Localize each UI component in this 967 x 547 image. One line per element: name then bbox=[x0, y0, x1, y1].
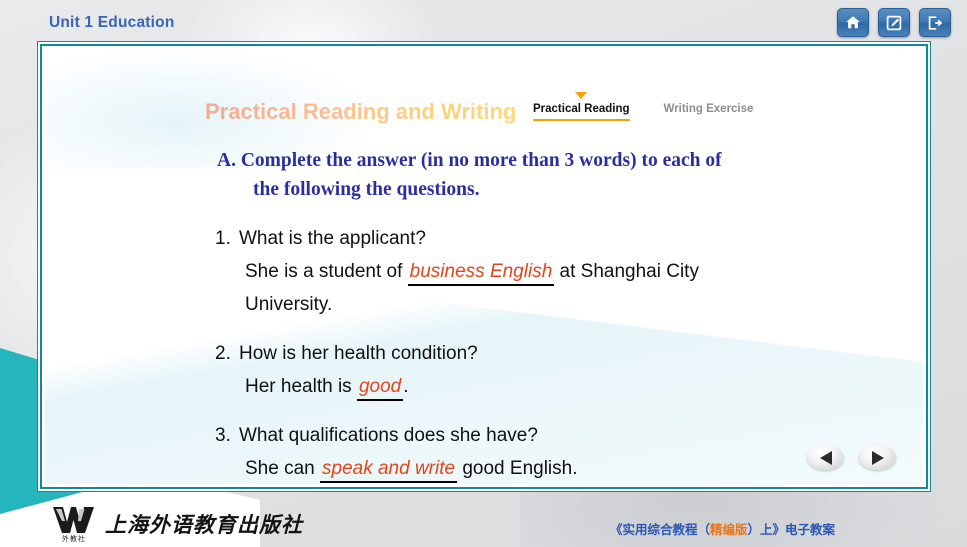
question-text: What qualifications does she have? bbox=[239, 425, 538, 446]
note-edit-icon[interactable] bbox=[878, 8, 910, 37]
home-icon[interactable] bbox=[837, 8, 869, 37]
page-title: Unit 1 Education bbox=[49, 14, 174, 32]
content-panel-body: Practical Reading and Writing Practical … bbox=[45, 49, 923, 484]
question-number: 2. bbox=[215, 337, 239, 370]
answer-prefix: She is a student of bbox=[245, 261, 408, 282]
question-item: 1.What is the applicant? She is a studen… bbox=[215, 222, 923, 321]
answer-blank[interactable]: business English bbox=[408, 260, 555, 286]
slide-stage: Unit 1 Education Practical Reading and W… bbox=[0, 0, 967, 547]
question-item: 2.How is her health condition? Her healt… bbox=[215, 337, 923, 403]
lesson-title: Practical Reading and Writing bbox=[205, 99, 516, 125]
arrow-right-icon bbox=[872, 451, 884, 465]
active-tab-caret-icon bbox=[575, 92, 587, 99]
instruction-line-2: the following the questions. bbox=[217, 175, 917, 204]
question-number: 3. bbox=[215, 419, 239, 452]
answer-blank[interactable]: speak and write bbox=[320, 457, 457, 483]
answer-wrap-line: University. bbox=[215, 288, 923, 321]
question-number: 1. bbox=[215, 222, 239, 255]
question-prompt: 2.How is her health condition? bbox=[215, 337, 923, 370]
content-panel-inner-border: Practical Reading and Writing Practical … bbox=[40, 44, 928, 489]
tab-practical-reading-label: Practical Reading bbox=[533, 103, 630, 115]
arrow-left-icon bbox=[820, 451, 832, 465]
question-text: How is her health condition? bbox=[239, 343, 478, 364]
exit-icon[interactable] bbox=[919, 8, 951, 37]
question-prompt: 1.What is the applicant? bbox=[215, 222, 923, 255]
answer-suffix: . bbox=[403, 376, 408, 397]
instruction-text: A. Complete the answer (in no more than … bbox=[217, 146, 917, 204]
instruction-line-1: A. Complete the answer (in no more than … bbox=[217, 150, 722, 171]
book-title-edition: 精编版 bbox=[710, 522, 748, 537]
tab-practical-reading[interactable]: Practical Reading bbox=[533, 103, 630, 121]
answer-prefix: Her health is bbox=[245, 376, 357, 397]
publisher-name: 上海外语教育出版社 bbox=[105, 509, 303, 539]
tab-writing-exercise[interactable]: Writing Exercise bbox=[664, 103, 754, 119]
publisher-logo: 外教社 上海外语教育出版社 bbox=[50, 505, 303, 543]
section-tabs: Practical Reading Writing Exercise bbox=[533, 103, 753, 121]
content-panel: Practical Reading and Writing Practical … bbox=[37, 41, 931, 492]
answer-prefix: She can bbox=[245, 458, 320, 479]
slide-navigation bbox=[807, 445, 896, 470]
next-slide-button[interactable] bbox=[859, 445, 896, 470]
book-title-prefix: 《实用综合教程（ bbox=[610, 522, 710, 537]
course-material-label: 《实用综合教程（精编版）上》电子教案 bbox=[610, 519, 835, 538]
book-title-suffix: ）上》电子教案 bbox=[747, 522, 835, 537]
answer-blank[interactable]: good bbox=[357, 375, 403, 401]
previous-slide-button[interactable] bbox=[807, 445, 844, 470]
answer-suffix: good English. bbox=[457, 458, 577, 479]
tab-writing-exercise-label: Writing Exercise bbox=[664, 103, 754, 115]
answer-suffix: at Shanghai City bbox=[554, 261, 699, 282]
answer-line: She is a student of business English at … bbox=[215, 255, 923, 288]
publisher-logo-subtext: 外教社 bbox=[53, 534, 95, 544]
header-icon-bar bbox=[837, 8, 951, 37]
publisher-logo-mark-icon: 外教社 bbox=[50, 505, 96, 543]
answer-line: Her health is good . bbox=[215, 370, 923, 403]
question-text: What is the applicant? bbox=[239, 228, 426, 249]
